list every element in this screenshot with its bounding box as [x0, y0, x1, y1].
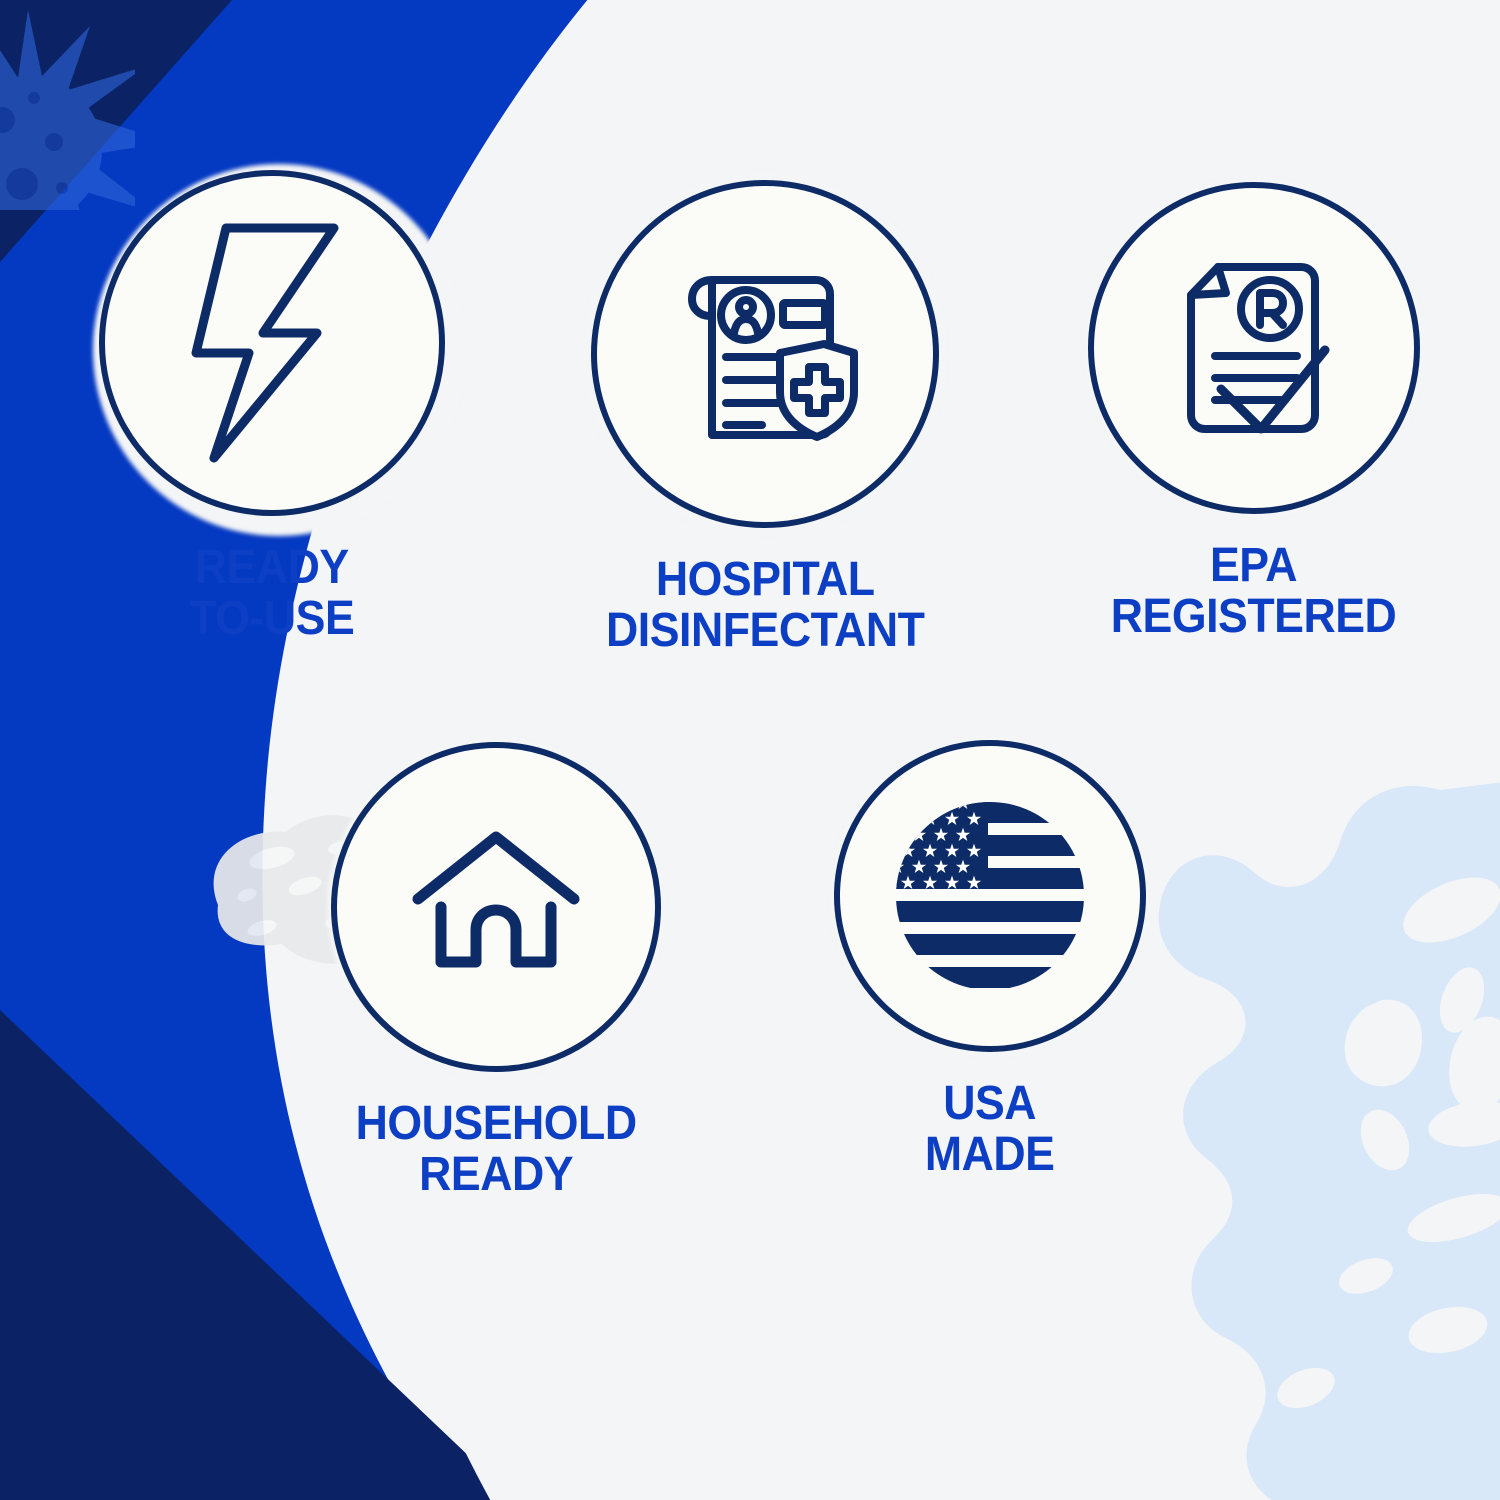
badge-label: READY TO-USE — [189, 542, 354, 645]
badge-label: HOUSEHOLD READY — [355, 1098, 636, 1201]
badge-label: USA MADE — [925, 1078, 1055, 1181]
badge-household-ready[interactable]: HOUSEHOLD READY — [325, 742, 667, 1201]
registered-document-check-icon — [1149, 243, 1359, 453]
badge-label: HOSPITAL DISINFECTANT — [606, 554, 924, 657]
disc-household-ready — [331, 742, 661, 1072]
infographic-canvas: READY TO-USE — [0, 0, 1500, 1500]
disc-epa-registered — [1088, 182, 1420, 514]
disc-ready-to-use — [99, 170, 445, 516]
disc-wrapper — [1088, 182, 1420, 514]
disc-wrapper — [834, 740, 1146, 1052]
usa-flag-circle-icon — [884, 790, 1096, 1002]
disc-wrapper — [331, 742, 661, 1072]
disc-hospital-disinfectant — [591, 180, 939, 528]
certificate-shield-icon — [658, 247, 873, 462]
badge-ready-to-use[interactable]: READY TO-USE — [92, 170, 452, 645]
disc-wrapper — [99, 170, 445, 516]
house-icon — [396, 807, 596, 1007]
badge-usa-made[interactable]: USA MADE — [830, 740, 1150, 1181]
lightning-bolt-icon — [167, 218, 377, 468]
disc-wrapper — [591, 180, 939, 528]
badge-hospital-disinfectant[interactable]: HOSPITAL DISINFECTANT — [575, 180, 955, 657]
badge-epa-registered[interactable]: EPA REGISTERED — [1078, 182, 1430, 643]
badge-label: EPA REGISTERED — [1111, 540, 1397, 643]
disc-usa-made — [834, 740, 1146, 1052]
